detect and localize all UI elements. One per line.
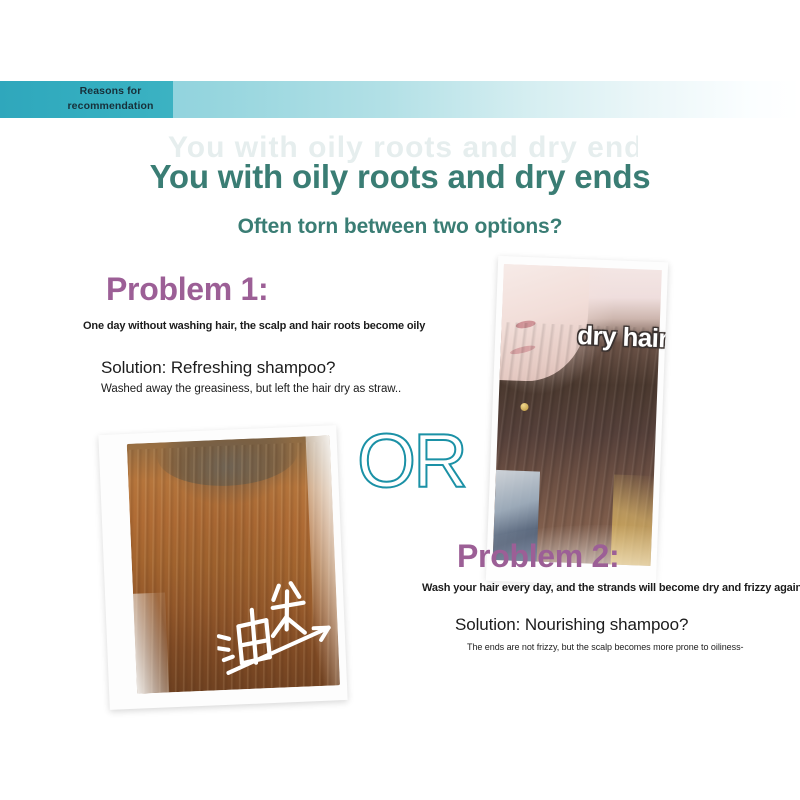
banner-tag-line-1: Reasons for (48, 84, 173, 99)
problem1-solution: Solution: Refreshing shampoo? (101, 358, 335, 378)
banner-tag-label: Reasons for recommendation (48, 84, 173, 114)
problem2-solution: Solution: Nourishing shampoo? (455, 615, 688, 635)
page-subtitle: Often torn between two options? (0, 215, 800, 239)
dry-hair-photo-image (493, 264, 662, 566)
slide-canvas: Reasons for recommendation You with oily… (0, 0, 800, 800)
oily-hair-photo (98, 425, 347, 710)
problem1-description: One day without washing hair, the scalp … (83, 320, 425, 332)
oily-hair-left-highlight (131, 592, 169, 693)
or-divider-label: OR (357, 424, 465, 500)
problem1-heading: Problem 1: (106, 271, 268, 308)
oily-hair-photo-image (127, 435, 340, 693)
problem1-note: Washed away the greasiness, but left the… (101, 383, 401, 395)
oily-hair-handwriting-annotation (215, 575, 337, 676)
problem2-description: Wash your hair every day, and the strand… (422, 582, 800, 594)
problem2-heading: Problem 2: (457, 538, 619, 575)
banner-tag-line-2: recommendation (48, 99, 173, 114)
page-title: You with oily roots and dry ends (0, 158, 800, 196)
dry-hair-overlay-label: dry hair (577, 320, 668, 354)
top-banner: Reasons for recommendation (0, 81, 800, 118)
problem2-note: The ends are not frizzy, but the scalp b… (467, 642, 743, 652)
